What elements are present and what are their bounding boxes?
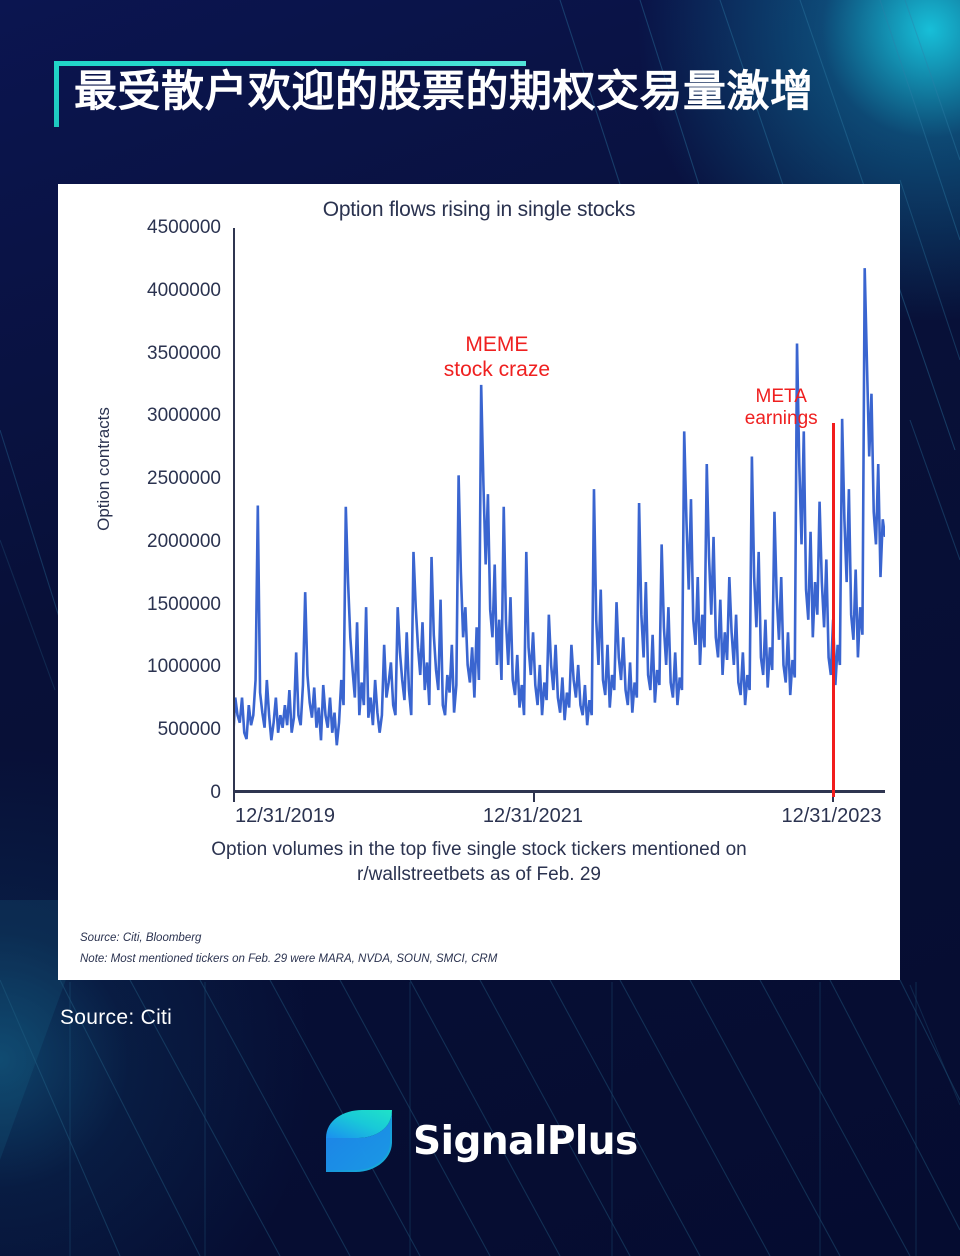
chart-source-note: Source: Citi, Bloomberg Note: Most menti… [80,928,497,971]
chart-source-line: Source: Citi, Bloomberg [80,928,497,949]
y-tick-label: 4000000 [147,280,221,302]
signalplus-wave-logo-icon [322,1108,396,1174]
annotation-meta-line1: META [745,386,818,408]
option-contracts-series [233,228,885,793]
y-tick-label: 3000000 [147,405,221,427]
y-tick-label: 0 [210,782,221,804]
annotation-meta-earnings: META earnings [745,386,818,431]
y-tick-label: 1000000 [147,656,221,678]
poster-root: 最受散户欢迎的股票的期权交易量激增 Option flows rising in… [0,0,960,1256]
headline-bracket-left [54,61,59,127]
chart-caption: Option volumes in the top five single st… [58,838,900,887]
chart-note-line: Note: Most mentioned tickers on Feb. 29 … [80,949,497,970]
y-tick-label: 1500000 [147,594,221,616]
x-tick-label: 12/31/2023 [781,805,881,828]
y-tick-label: 4500000 [147,217,221,239]
headline-bracket-top [54,61,526,66]
x-tick-mark [233,793,235,802]
chart-panel: Option flows rising in single stocks Opt… [58,184,900,980]
y-axis-line [233,228,235,793]
chart-caption-line2: r/wallstreetbets as of Feb. 29 [58,863,900,888]
x-tick-label: 12/31/2021 [483,805,583,828]
plot-area: 4500000400000035000003000000250000020000… [233,228,885,793]
annotation-meme-stock-craze: MEME stock craze [444,333,550,383]
annotation-meta-line2: earnings [745,408,818,430]
y-tick-label: 500000 [158,719,221,741]
meta-earnings-marker [832,423,835,797]
footer-source: Source: Citi [60,1006,172,1030]
page-headline: 最受散户欢迎的股票的期权交易量激增 [74,70,934,115]
x-axis-line [233,790,885,793]
y-tick-label: 2000000 [147,531,221,553]
x-tick-label: 12/31/2019 [235,805,335,828]
y-axis-title: Option contracts [94,407,114,531]
brand-logo: SignalPlus [322,1108,638,1174]
x-tick-mark [533,793,535,802]
chart-caption-line1: Option volumes in the top five single st… [58,838,900,863]
annotation-meme-line2: stock craze [444,358,550,383]
y-tick-label: 3500000 [147,343,221,365]
brand-name: SignalPlus [413,1119,638,1164]
y-tick-label: 2500000 [147,468,221,490]
annotation-meme-line1: MEME [444,333,550,358]
